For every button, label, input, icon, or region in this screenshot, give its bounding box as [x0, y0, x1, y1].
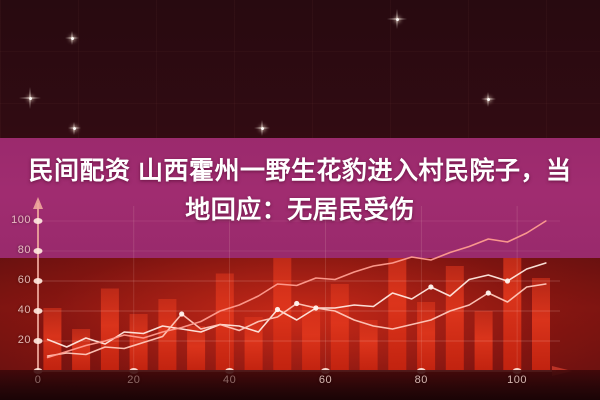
- x-axis-tick-label: 20: [124, 374, 144, 386]
- x-axis-tick-label: 0: [28, 374, 48, 386]
- headline-line-1: 民间配资 山西霍州一野生花豹进入村民院子，当: [29, 157, 572, 185]
- y-axis-tick-label: 20: [18, 334, 31, 346]
- x-axis-tick-label: 40: [220, 374, 240, 386]
- x-axis-tick-label: 80: [411, 374, 431, 386]
- page-title: 民间配资 山西霍州一野生花豹进入村民院子，当 地回应：无居民受伤: [14, 152, 586, 230]
- y-axis-tick-label: 40: [18, 304, 31, 316]
- headline-line-2: 地回应：无居民受伤: [14, 191, 586, 230]
- x-axis-tick-label: 60: [315, 374, 335, 386]
- y-axis-tick-label: 60: [18, 274, 31, 286]
- y-axis-tick-label: 80: [18, 244, 31, 256]
- x-axis-tick-label: 100: [507, 374, 527, 386]
- banner-image: 20406080100020406080100 民间配资 山西霍州一野生花豹进入…: [0, 0, 600, 400]
